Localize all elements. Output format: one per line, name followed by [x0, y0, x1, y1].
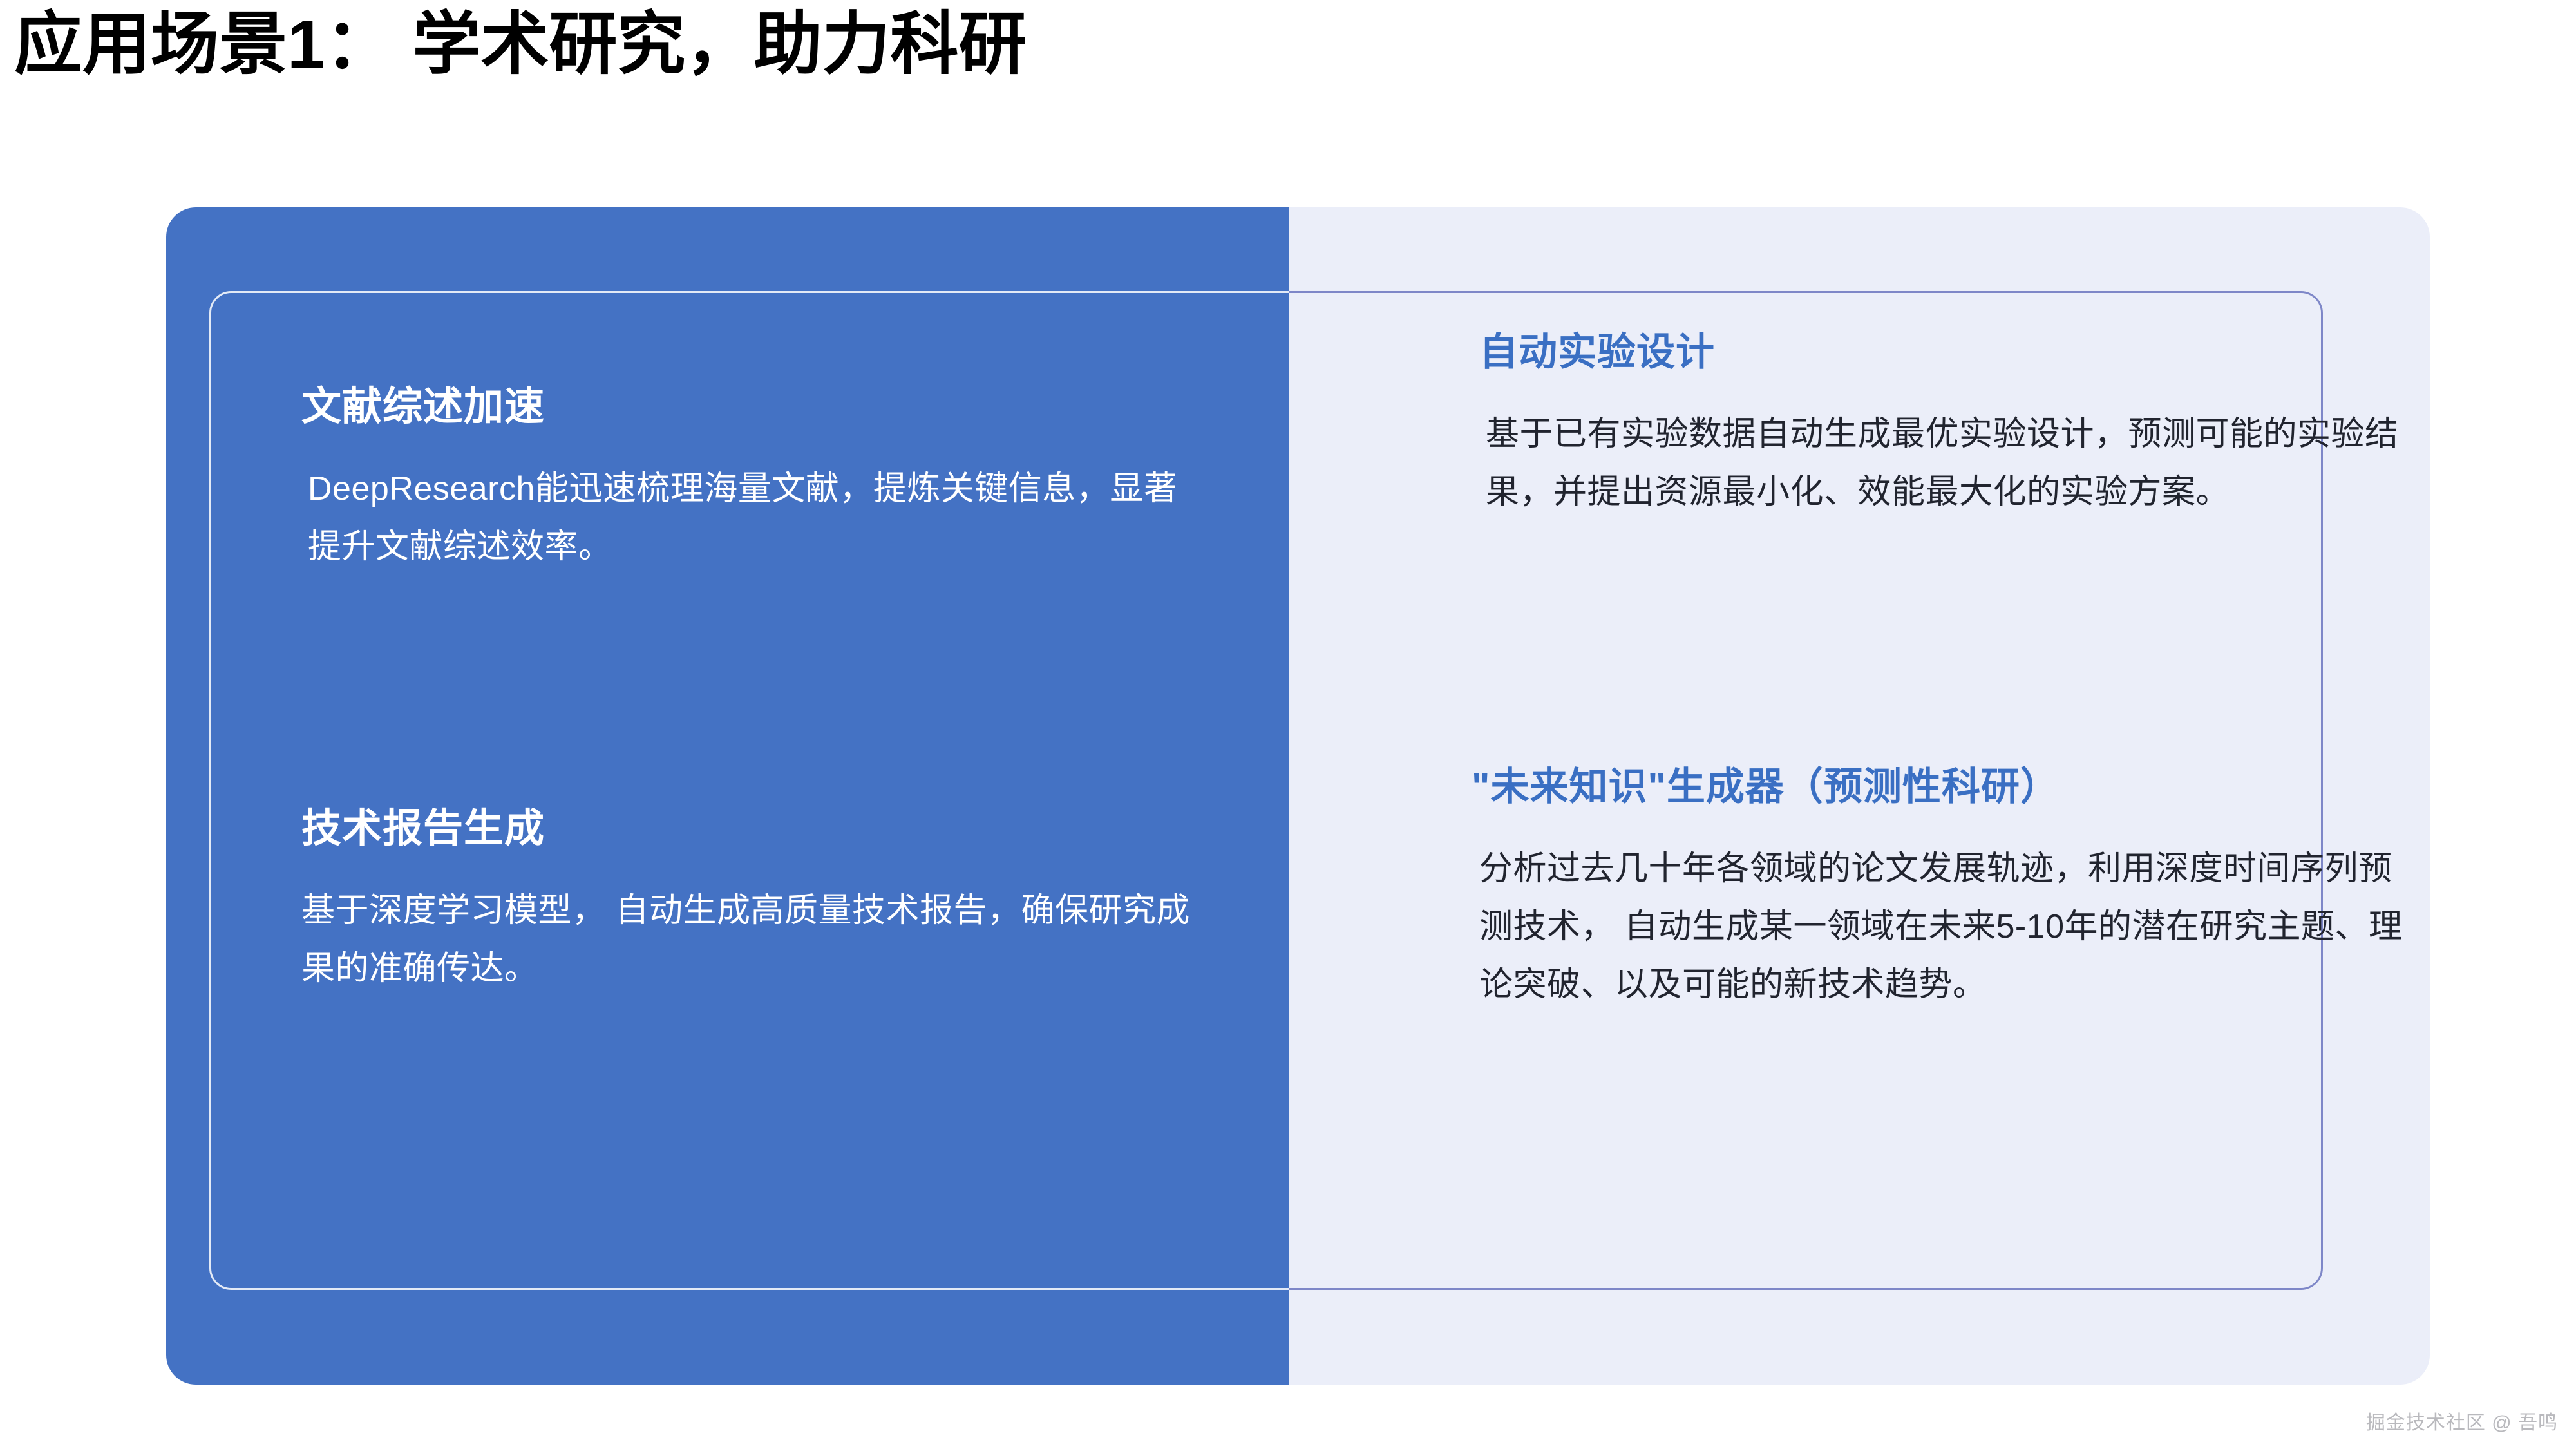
- watermark-label: 掘金技术社区 @ 吾鸣: [2366, 1406, 2558, 1435]
- block-body-technical-report: 基于深度学习模型， 自动生成高质量技术报告，确保研究成果的准确传达。: [301, 882, 1203, 998]
- block-heading-technical-report: 技术报告生成: [301, 803, 1203, 855]
- block-body-auto-experiment-design: 基于已有实验数据自动生成最优实验设计，预测可能的实验结果，并提出资源最小化、效能…: [1486, 405, 2407, 521]
- block-body-literature-review: DeepResearch能迅速梳理海量文献，提炼关键信息，显著提升文献综述效率。: [308, 460, 1203, 576]
- block-auto-experiment-design: 自动实验设计 基于已有实验数据自动生成最优实验设计，预测可能的实验结果，并提出资…: [1479, 327, 2407, 521]
- block-heading-literature-review: 文献综述加速: [301, 381, 1203, 433]
- block-literature-review: 文献综述加速 DeepResearch能迅速梳理海量文献，提炼关键信息，显著提升…: [301, 381, 1203, 576]
- block-heading-future-knowledge-generator: "未来知识"生成器（预测性科研）: [1472, 761, 2420, 813]
- page-title: 应用场景1： 学术研究，助力科研: [14, 0, 1027, 93]
- content-card: 文献综述加速 DeepResearch能迅速梳理海量文献，提炼关键信息，显著提升…: [166, 207, 2430, 1385]
- block-heading-auto-experiment-design: 自动实验设计: [1479, 327, 2407, 378]
- block-future-knowledge-generator: "未来知识"生成器（预测性科研） 分析过去几十年各领域的论文发展轨迹，利用深度时…: [1479, 761, 2420, 1014]
- block-technical-report: 技术报告生成 基于深度学习模型， 自动生成高质量技术报告，确保研究成果的准确传达…: [301, 803, 1203, 998]
- block-body-future-knowledge-generator: 分析过去几十年各领域的论文发展轨迹，利用深度时间序列预测技术， 自动生成某一领域…: [1479, 840, 2420, 1014]
